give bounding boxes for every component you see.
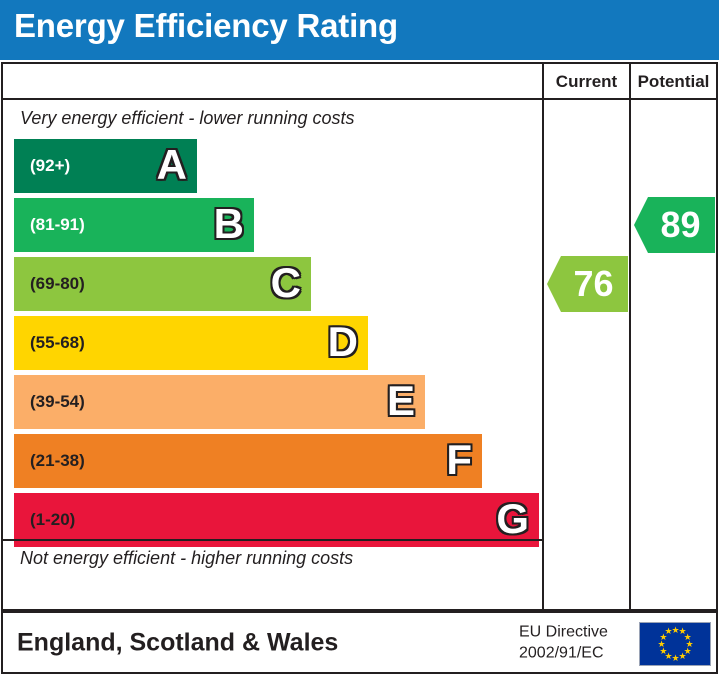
band-a: (92+)A — [14, 139, 197, 193]
band-letter-f: F — [446, 439, 472, 481]
eu-flag-star: ★ — [665, 628, 672, 635]
eu-directive-line2: 2002/91/EC — [519, 643, 608, 665]
band-letter-d: D — [328, 321, 358, 363]
eu-directive-line1: EU Directive — [519, 621, 608, 643]
column-header-row: Current Potential — [3, 64, 716, 100]
energy-efficiency-rating-chart: Energy Efficiency Rating Current Potenti… — [0, 0, 719, 675]
band-letter-e: E — [387, 380, 415, 422]
band-letter-c: C — [271, 262, 301, 304]
band-range-e: (39-54) — [30, 392, 85, 412]
caption-inefficient: Not energy efficient - higher running co… — [3, 539, 542, 575]
band-range-a: (92+) — [30, 156, 70, 176]
eu-flag-star: ★ — [658, 641, 665, 648]
band-letter-b: B — [214, 203, 244, 245]
eu-directive-text: EU Directive 2002/91/EC — [519, 621, 608, 664]
title-bar: Energy Efficiency Rating — [0, 0, 719, 60]
page-title: Energy Efficiency Rating — [14, 7, 398, 45]
arrow-current-value: 76 — [573, 266, 613, 302]
eu-flag-icon: ★★★★★★★★★★★★ — [639, 622, 711, 666]
footer: England, Scotland & Wales EU Directive 2… — [1, 611, 718, 674]
band-range-b: (81-91) — [30, 215, 85, 235]
band-range-d: (55-68) — [30, 333, 85, 353]
band-b: (81-91)B — [14, 198, 254, 252]
column-divider-potential — [629, 100, 631, 611]
rating-table: Current Potential Very energy efficient … — [1, 62, 718, 611]
band-d: (55-68)D — [14, 316, 368, 370]
footer-region-label: England, Scotland & Wales — [17, 628, 338, 657]
current-rating-arrow: 76 — [547, 256, 628, 312]
band-f: (21-38)F — [14, 434, 482, 488]
band-range-c: (69-80) — [30, 274, 85, 294]
band-range-f: (21-38) — [30, 451, 85, 471]
band-letter-a: A — [157, 144, 187, 186]
arrow-potential-value: 89 — [660, 207, 700, 243]
column-divider-current — [542, 100, 544, 611]
column-header-current: Current — [542, 64, 629, 100]
band-c: (69-80)C — [14, 257, 311, 311]
potential-rating-arrow: 89 — [634, 197, 715, 253]
caption-efficient: Very energy efficient - lower running co… — [3, 100, 542, 136]
band-e: (39-54)E — [14, 375, 425, 429]
column-header-potential: Potential — [629, 64, 716, 100]
band-letter-g: G — [496, 498, 529, 540]
band-range-g: (1-20) — [30, 510, 75, 530]
eu-flag-star: ★ — [659, 648, 666, 655]
